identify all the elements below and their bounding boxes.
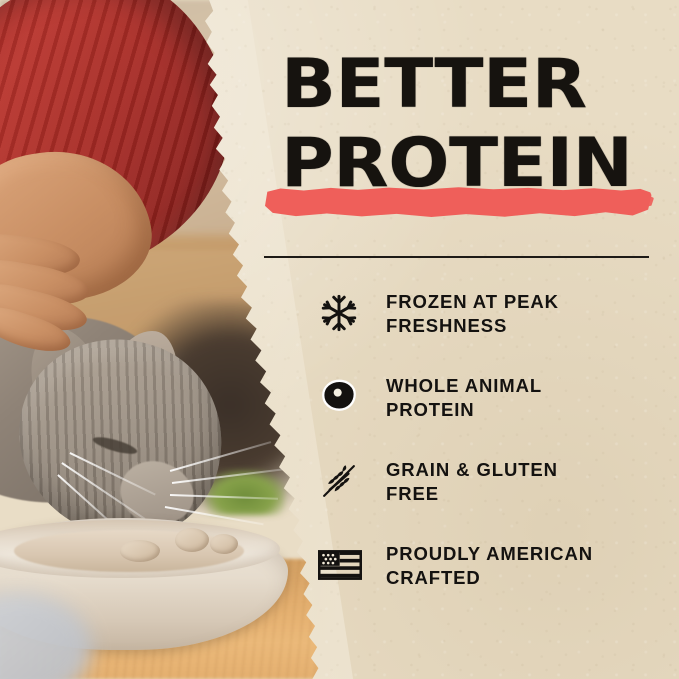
feature-item-protein: WHOLE ANIMAL PROTEIN [318,370,658,426]
american-flag-icon [318,540,366,590]
feature-line-1: WHOLE ANIMAL [386,374,542,398]
feature-line-1: GRAIN & GLUTEN [386,458,558,482]
feature-line-2: CRAFTED [386,566,593,590]
feature-line-2: PROTEIN [386,398,542,422]
feature-line-1: PROUDLY AMERICAN [386,542,593,566]
feature-label: PROUDLY AMERICAN CRAFTED [386,538,593,591]
feature-line-2: FREE [386,482,558,506]
food-chunk [175,528,209,552]
headline-block: BETTER PROTEIN [281,52,661,197]
headline-line-2: PROTEIN [281,131,679,198]
feature-label: FROZEN AT PEAK FRESHNESS [386,286,559,339]
feature-item-frozen: FROZEN AT PEAK FRESHNESS [318,286,658,342]
feature-label: GRAIN & GLUTEN FREE [386,454,558,507]
feature-item-american: PROUDLY AMERICAN CRAFTED [318,538,658,594]
feature-line-1: FROZEN AT PEAK [386,290,559,314]
feature-label: WHOLE ANIMAL PROTEIN [386,370,542,423]
food-chunk [210,534,238,554]
snowflake-icon [318,288,366,338]
feature-line-2: FRESHNESS [386,314,559,338]
product-feature-banner: BETTER PROTEIN [0,0,679,679]
feature-item-grain-free: GRAIN & GLUTEN FREE [318,454,658,510]
horizontal-divider [264,256,649,258]
feature-list: FROZEN AT PEAK FRESHNESS WHOLE ANIMAL PR… [318,286,658,594]
headline-line-1: BETTER [281,52,679,119]
food-chunk [120,540,160,562]
meat-cut-icon [318,372,366,422]
wheat-crossed-out-icon [318,456,366,506]
